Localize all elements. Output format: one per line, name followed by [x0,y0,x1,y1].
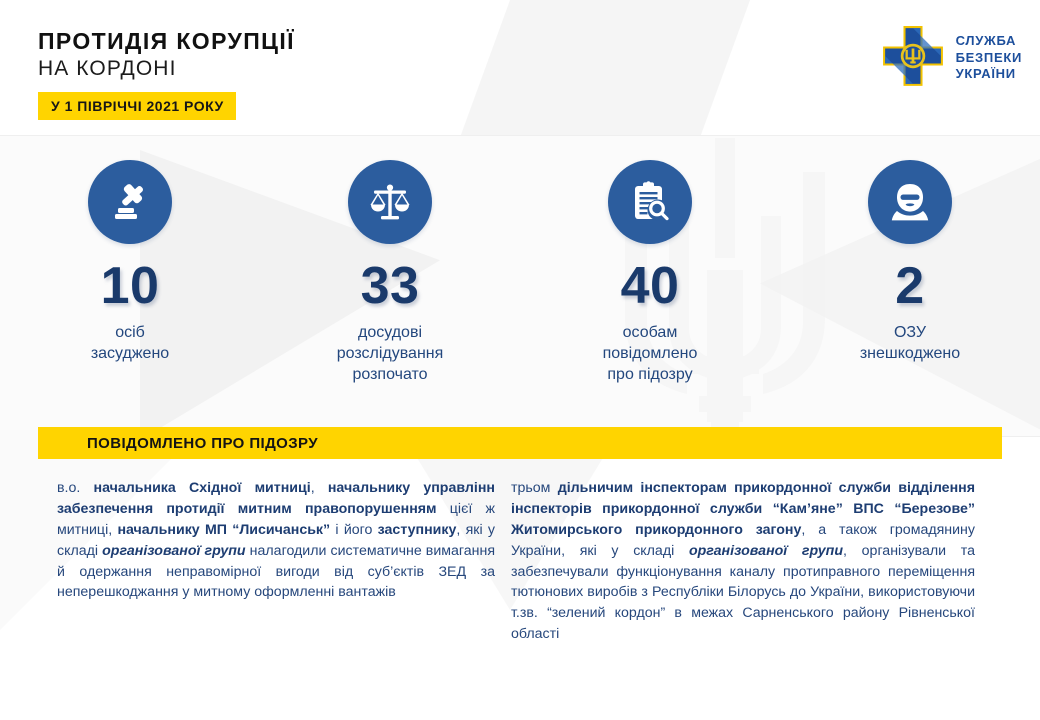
page-title-line1: ПРОТИДІЯ КОРУПЦІЇ [38,28,295,55]
stat-number: 10 [101,260,160,312]
stat-number: 2 [895,260,924,312]
sbu-logo-text: СЛУЖБА БЕЗПЕКИ УКРАЇНИ [956,33,1022,84]
sbu-cross-emblem-icon [879,24,947,92]
gavel-icon [88,160,172,244]
section-banner-title: ПОВІДОМЛЕНО ПРО ПІДОЗРУ [87,435,318,452]
title-block: ПРОТИДІЯ КОРУПЦІЇ НА КОРДОНІ У 1 ПІВРІЧЧ… [38,28,295,120]
stat-number: 33 [361,260,420,312]
stat-label: досудові розслідування розпочато [337,322,444,385]
body-columns: в.о. начальника Східної митниці, начальн… [0,478,1040,645]
sbu-logo: СЛУЖБА БЕЗПЕКИ УКРАЇНИ [879,24,1022,92]
stat-item-convicted: 10 осіб засуджено [0,160,260,420]
infographic-page: ПРОТИДІЯ КОРУПЦІЇ НА КОРДОНІ У 1 ПІВРІЧЧ… [0,0,1040,720]
scales-icon [348,160,432,244]
stat-item-suspicion: 40 особам повідомлено про підозру [520,160,780,420]
masked-person-icon [868,160,952,244]
body-text-left: в.о. начальника Східної митниці, начальн… [57,478,495,645]
clipboard-search-icon [608,160,692,244]
logo-text-line3: УКРАЇНИ [956,66,1022,83]
period-badge: У 1 ПІВРІЧЧІ 2021 РОКУ [38,92,236,120]
statistics-row: 10 осіб засуджено 3 [0,160,1040,420]
page-title-line2: НА КОРДОНІ [38,56,295,81]
body-text-right: трьом дільничим інспекторам прикордонної… [511,478,975,645]
section-banner: ПОВІДОМЛЕНО ПРО ПІДОЗРУ [38,427,1002,459]
stat-item-groups: 2 ОЗУ знешкоджено [780,160,1040,420]
stat-label: ОЗУ знешкоджено [860,322,960,364]
page-header: ПРОТИДІЯ КОРУПЦІЇ НА КОРДОНІ У 1 ПІВРІЧЧ… [0,0,1040,135]
stat-label: особам повідомлено про підозру [603,322,698,385]
logo-text-line2: БЕЗПЕКИ [956,50,1022,67]
logo-text-line1: СЛУЖБА [956,33,1022,50]
stat-item-investigations: 33 досудові розслідування розпочато [260,160,520,420]
stat-label: осіб засуджено [91,322,169,364]
stat-number: 40 [621,260,680,312]
